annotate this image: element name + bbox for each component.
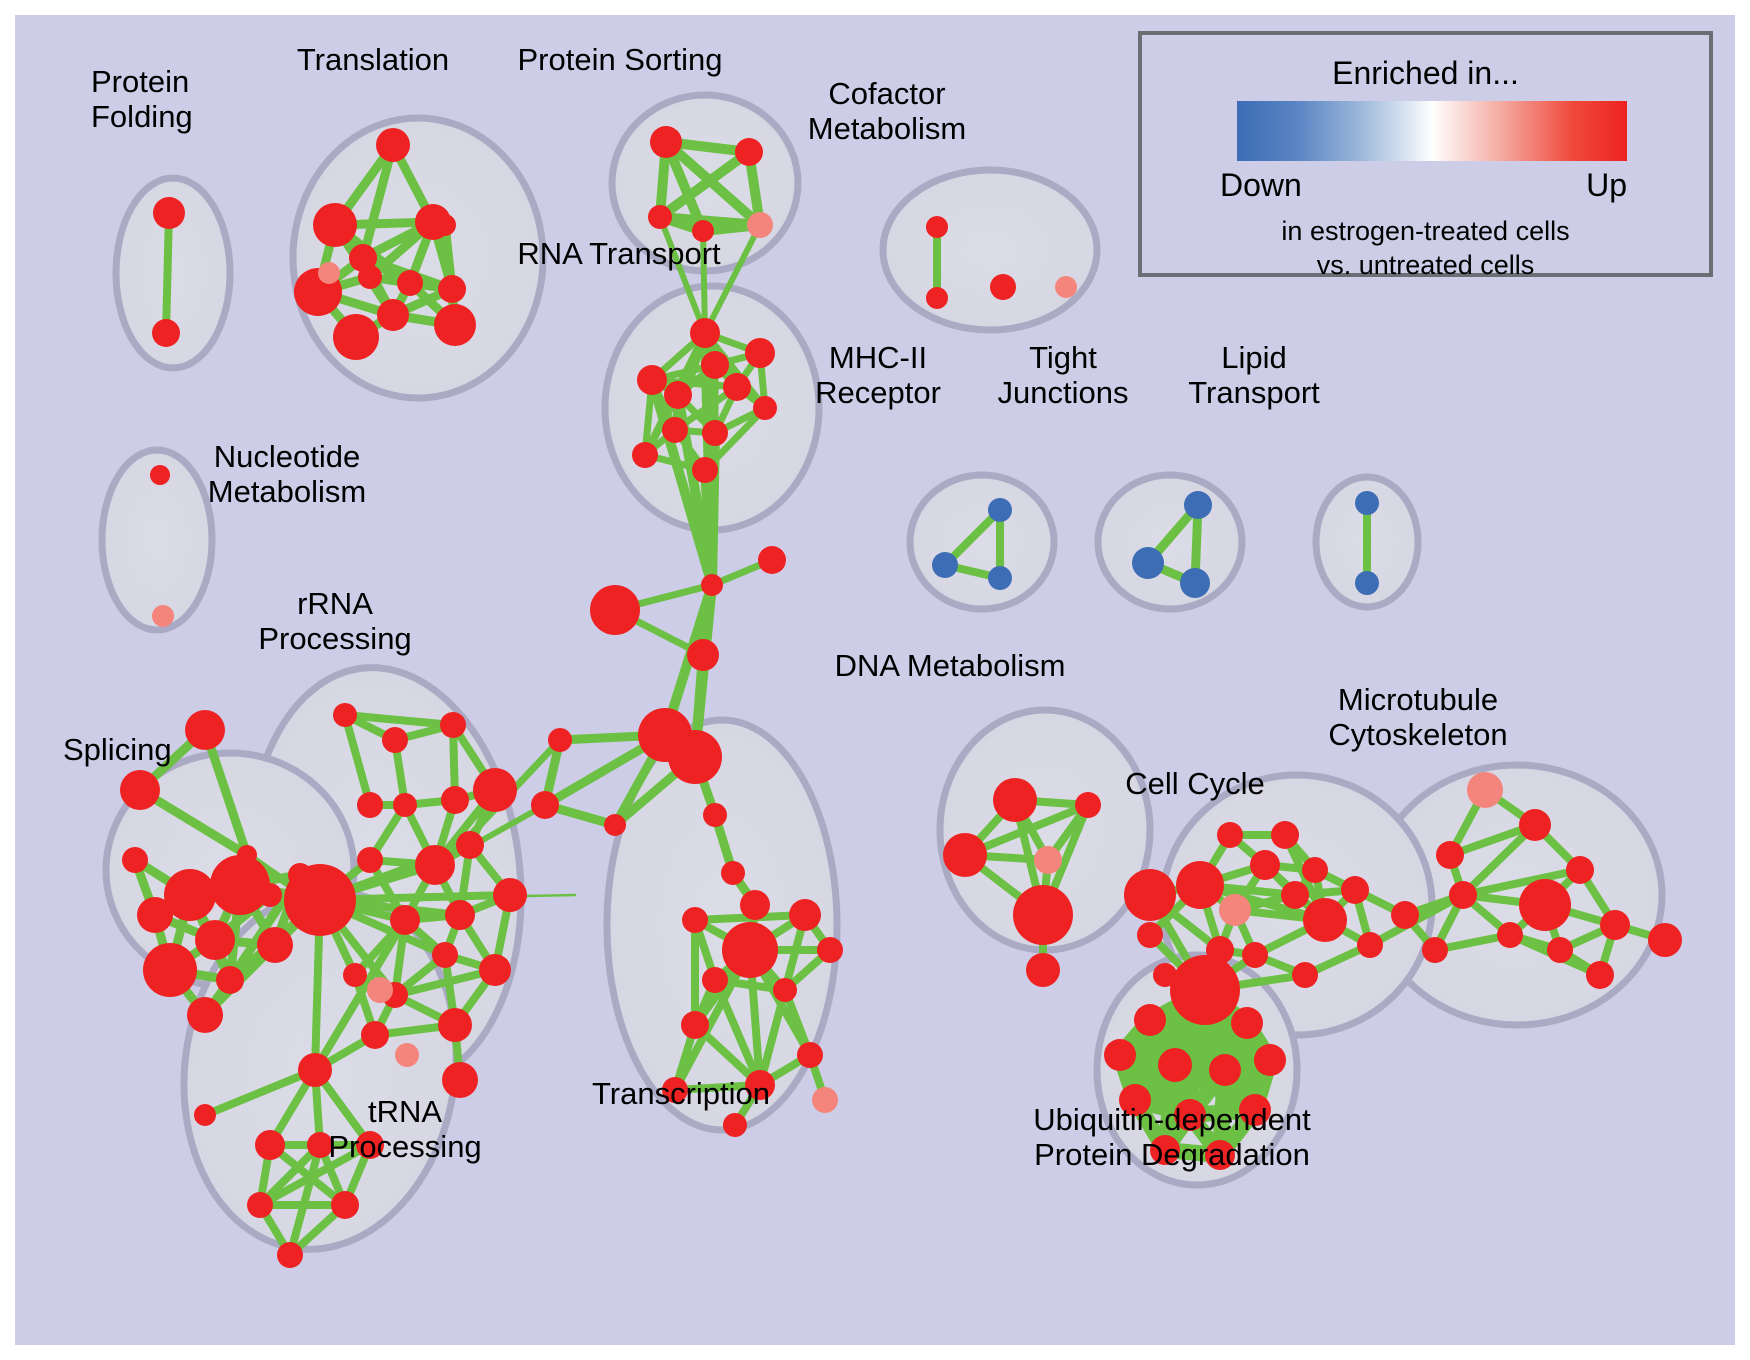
node: [789, 899, 821, 931]
legend-subtitle-line1: in estrogen-treated cells: [1281, 216, 1569, 246]
node: [185, 710, 225, 750]
node: [390, 905, 420, 935]
legend-subtitle: in estrogen-treated cellsvs. untreated c…: [1142, 215, 1709, 283]
node: [277, 1242, 303, 1268]
node: [701, 574, 723, 596]
node: [343, 963, 367, 987]
node: [150, 465, 170, 485]
node: [988, 498, 1012, 522]
node: [662, 417, 688, 443]
node: [721, 861, 745, 885]
node: [747, 212, 773, 238]
node: [1422, 937, 1448, 963]
node: [415, 845, 455, 885]
node: [990, 274, 1016, 300]
cluster-label-nucleotide-metabolism: Nucleotide Metabolism: [208, 440, 367, 509]
node: [648, 205, 672, 229]
node: [313, 203, 357, 247]
node: [1254, 1044, 1286, 1076]
node: [1497, 922, 1523, 948]
node: [1449, 881, 1477, 909]
node: [632, 442, 658, 468]
node: [473, 768, 517, 812]
node: [284, 864, 356, 936]
node: [650, 126, 682, 158]
legend-up-label: Up: [1586, 167, 1627, 204]
node: [1467, 772, 1503, 808]
figure-canvas: Protein Folding Translation Protein Sort…: [15, 15, 1735, 1345]
node: [1586, 961, 1614, 989]
node: [745, 338, 775, 368]
cluster-label-microtubule-cytoskeleton: Microtubule Cytoskeleton: [1328, 683, 1507, 752]
node: [1219, 894, 1251, 926]
node: [753, 396, 777, 420]
node: [1519, 809, 1551, 841]
node: [434, 304, 476, 346]
node: [773, 978, 797, 1002]
cluster-label-ubiquitin-degradation: Ubiquitin-dependent Protein Degradation: [1033, 1103, 1311, 1172]
legend-down-label: Down: [1220, 167, 1302, 204]
node: [1104, 1039, 1136, 1071]
node: [702, 420, 728, 446]
node: [1217, 822, 1243, 848]
node: [1600, 910, 1630, 940]
node: [397, 270, 423, 296]
node: [735, 138, 763, 166]
node: [1209, 1054, 1241, 1086]
node: [122, 847, 148, 873]
node: [817, 937, 843, 963]
node: [722, 922, 778, 978]
node: [438, 275, 466, 303]
node: [1391, 901, 1419, 929]
node: [441, 786, 469, 814]
node: [1184, 491, 1212, 519]
node: [1055, 276, 1077, 298]
node: [357, 792, 383, 818]
node: [943, 833, 987, 877]
node: [1648, 923, 1682, 957]
node: [395, 1043, 419, 1067]
node: [493, 878, 527, 912]
node: [255, 1130, 285, 1160]
node: [1281, 881, 1309, 909]
node: [137, 897, 173, 933]
node: [604, 814, 626, 836]
node: [1158, 1048, 1192, 1082]
cluster-label-tight-junctions: Tight Junctions: [998, 341, 1129, 410]
node: [1231, 1007, 1263, 1039]
cluster-label-transcription: Transcription: [592, 1077, 770, 1112]
cluster-label-splicing: Splicing: [63, 733, 172, 768]
node: [758, 546, 786, 574]
node: [257, 927, 293, 963]
node: [442, 1062, 478, 1098]
node: [434, 214, 456, 236]
node: [216, 966, 244, 994]
node: [1242, 942, 1268, 968]
node: [1180, 988, 1214, 1022]
node: [143, 943, 197, 997]
node: [1547, 937, 1573, 963]
node: [812, 1087, 838, 1113]
node: [331, 1191, 359, 1219]
node: [1355, 571, 1379, 595]
node: [1075, 792, 1101, 818]
node: [1153, 963, 1177, 987]
node: [298, 1053, 332, 1087]
legend-title: Enriched in...: [1142, 55, 1709, 92]
node: [702, 967, 728, 993]
node: [1357, 932, 1383, 958]
hull-cofactor: [883, 170, 1097, 330]
node: [682, 907, 708, 933]
node: [1180, 568, 1210, 598]
node: [367, 977, 393, 1003]
legend-subtitle-line2: vs. untreated cells: [1317, 250, 1535, 280]
node: [926, 287, 948, 309]
node: [1132, 547, 1164, 579]
node: [153, 197, 185, 229]
node: [258, 883, 282, 907]
node: [194, 1104, 216, 1126]
node: [681, 1011, 709, 1039]
node: [703, 803, 727, 827]
node: [1124, 869, 1176, 921]
legend-box: Enriched in... Down Up in estrogen-treat…: [1138, 31, 1713, 277]
node: [479, 954, 511, 986]
cluster-label-rna-transport: RNA Transport: [517, 237, 720, 272]
node: [445, 900, 475, 930]
node: [1341, 876, 1369, 904]
node: [687, 639, 719, 671]
node: [701, 351, 729, 379]
node: [1013, 885, 1073, 945]
node: [637, 365, 667, 395]
node: [382, 727, 408, 753]
cluster-label-trna-processing: tRNA Processing: [328, 1095, 481, 1164]
node: [1355, 491, 1379, 515]
cluster-label-cofactor-metabolism: Cofactor Metabolism: [808, 77, 967, 146]
node: [247, 1192, 273, 1218]
node: [692, 457, 718, 483]
node: [377, 299, 409, 331]
hull-mhc: [910, 475, 1054, 609]
node: [333, 314, 379, 360]
node: [432, 942, 458, 968]
node: [376, 128, 410, 162]
node: [1250, 850, 1280, 880]
node: [723, 1113, 747, 1137]
node: [195, 920, 235, 960]
node: [531, 791, 559, 819]
node: [318, 262, 340, 284]
node: [187, 997, 223, 1033]
node: [993, 778, 1037, 822]
cluster-label-dna-metabolism: DNA Metabolism: [835, 649, 1066, 684]
node: [361, 1021, 389, 1049]
node: [440, 712, 466, 738]
cluster-label-mhc-ii-receptor: MHC-II Receptor: [815, 341, 941, 410]
cluster-label-protein-sorting: Protein Sorting: [517, 43, 722, 78]
node: [1271, 821, 1299, 849]
node: [1566, 856, 1594, 884]
cluster-label-rrna-processing: rRNA Processing: [258, 587, 411, 656]
node: [1292, 962, 1318, 988]
node: [723, 373, 751, 401]
color-scale-bar: [1237, 101, 1627, 161]
node: [932, 552, 958, 578]
node: [1134, 1004, 1166, 1036]
cluster-label-cell-cycle: Cell Cycle: [1125, 767, 1265, 802]
cluster-label-lipid-transport: Lipid Transport: [1188, 341, 1320, 410]
node: [1034, 846, 1062, 874]
cluster-label-translation: Translation: [297, 43, 449, 78]
node: [438, 1008, 472, 1042]
node: [1137, 922, 1163, 948]
node: [1302, 857, 1328, 883]
node: [1303, 898, 1347, 942]
node: [1176, 861, 1224, 909]
node: [797, 1042, 823, 1068]
node: [988, 566, 1012, 590]
node: [1519, 879, 1571, 931]
node: [393, 793, 417, 817]
node: [349, 244, 377, 272]
node: [690, 318, 720, 348]
node: [456, 831, 484, 859]
node: [1026, 953, 1060, 987]
node: [357, 847, 383, 873]
node: [152, 605, 174, 627]
node: [664, 381, 692, 409]
node: [926, 216, 948, 238]
node: [210, 855, 270, 915]
node: [152, 319, 180, 347]
node: [120, 770, 160, 810]
cluster-label-protein-folding: Protein Folding: [91, 65, 193, 134]
node: [740, 890, 770, 920]
node: [668, 730, 722, 784]
node: [1436, 841, 1464, 869]
node: [333, 703, 357, 727]
node: [548, 728, 572, 752]
node: [590, 585, 640, 635]
